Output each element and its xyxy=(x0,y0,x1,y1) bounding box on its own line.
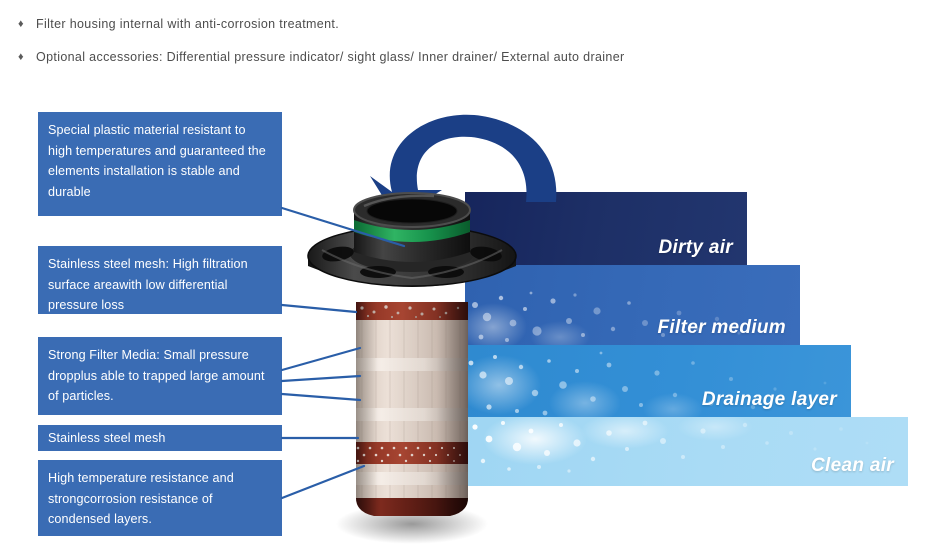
filter-element-photo xyxy=(292,180,532,548)
bullet-text-1: Optional accessories: Differential press… xyxy=(36,49,625,65)
diamond-bullet-icon: ♦ xyxy=(18,49,36,65)
callout-stainless-steel-mesh-upper[interactable]: Stainless steel mesh: High filtration su… xyxy=(38,246,282,314)
band-label: Filter medium xyxy=(658,317,786,339)
callout-stainless-steel-mesh-lower[interactable]: Stainless steel mesh xyxy=(38,425,282,451)
diamond-bullet-icon: ♦ xyxy=(18,16,36,32)
band-label: Drainage layer xyxy=(702,389,837,411)
infographic-canvas: ♦ Filter housing internal with anti-corr… xyxy=(0,0,934,548)
callout-high-temperature-resistance[interactable]: High temperature resistance and strongco… xyxy=(38,460,282,536)
callout-special-plastic-material[interactable]: Special plastic material resistant to hi… xyxy=(38,112,282,216)
list-item: ♦ Optional accessories: Differential pre… xyxy=(18,49,625,65)
band-label: Clean air xyxy=(811,455,894,477)
callout-strong-filter-media[interactable]: Strong Filter Media: Small pressure drop… xyxy=(38,337,282,415)
bullet-text-0: Filter housing internal with anti-corros… xyxy=(36,16,339,32)
band-label: Dirty air xyxy=(658,237,733,259)
list-item: ♦ Filter housing internal with anti-corr… xyxy=(18,16,339,32)
